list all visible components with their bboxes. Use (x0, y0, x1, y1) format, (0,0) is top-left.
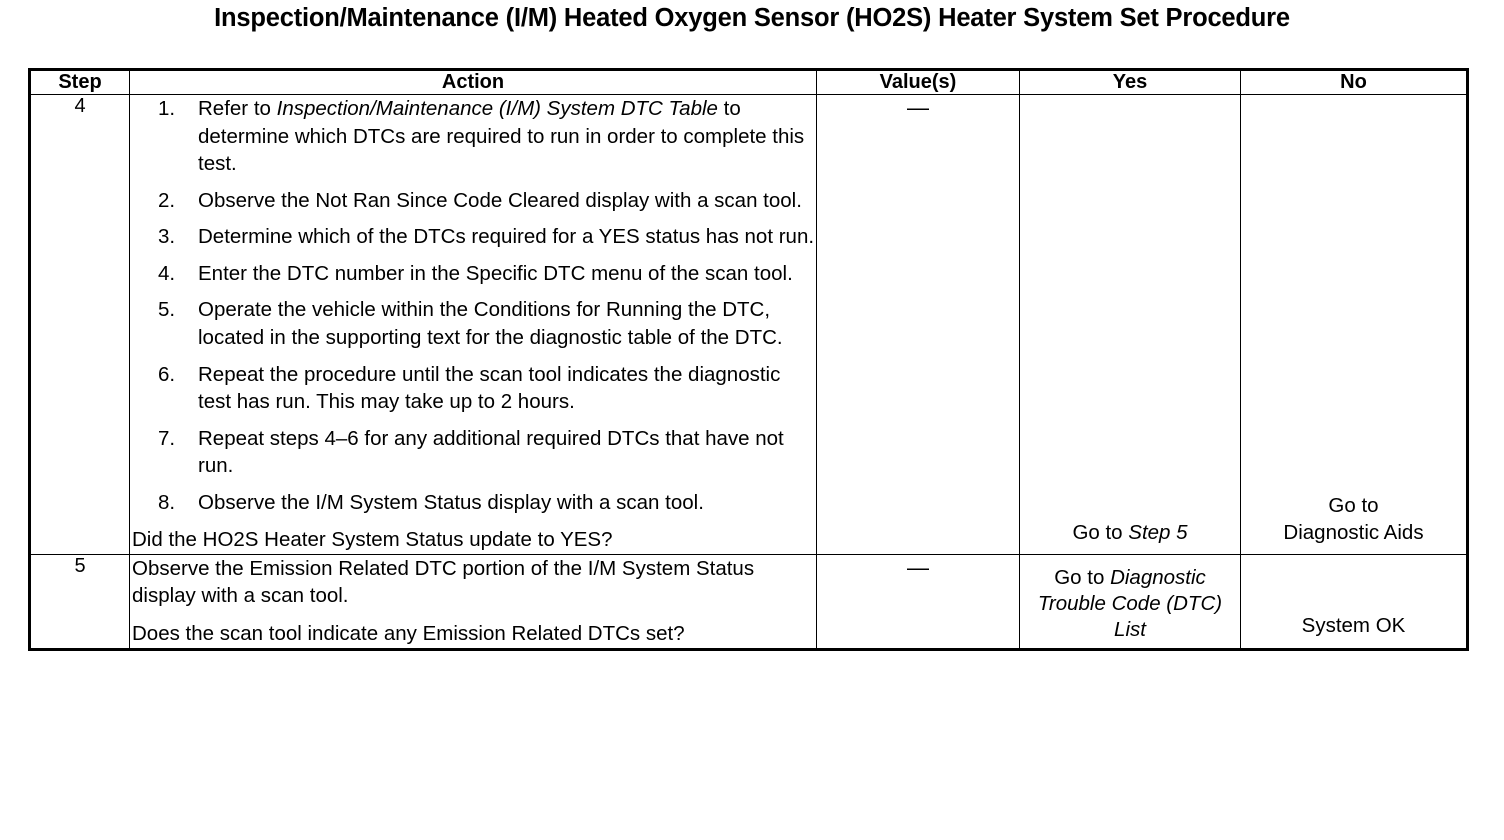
column-header-step: Step (30, 70, 130, 95)
list-item-number: 5. (158, 296, 190, 324)
list-item-number: 6. (158, 361, 190, 389)
table-header: Step Action Value(s) Yes No (30, 70, 1468, 95)
list-item-number: 8. (158, 489, 190, 517)
table-body: 4 1.Refer to Inspection/Maintenance (I/M… (30, 95, 1468, 650)
column-header-yes: Yes (1020, 70, 1241, 95)
action-cell: Observe the Emission Related DTC portion… (130, 554, 817, 649)
list-item: 4.Enter the DTC number in the Specific D… (130, 260, 816, 288)
action-question: Does the scan tool indicate any Emission… (130, 620, 816, 648)
list-item-text: Enter the DTC number in the Specific DTC… (198, 262, 793, 285)
action-paragraph: Observe the Emission Related DTC portion… (130, 555, 816, 610)
list-item: 2.Observe the Not Ran Since Code Cleared… (130, 187, 816, 215)
list-item-number: 1. (158, 95, 190, 123)
list-item: 3.Determine which of the DTCs required f… (130, 223, 816, 251)
table-row: 5 Observe the Emission Related DTC porti… (30, 554, 1468, 649)
yes-branch-cell: Go to Step 5 (1020, 95, 1241, 555)
list-item: 8.Observe the I/M System Status display … (130, 489, 816, 517)
no-branch-cell: Go to Diagnostic Aids (1241, 95, 1468, 555)
step-number: 5 (30, 554, 130, 649)
action-cell: 1.Refer to Inspection/Maintenance (I/M) … (130, 95, 817, 555)
no-branch-cell: System OK (1241, 554, 1468, 649)
list-item: 1.Refer to Inspection/Maintenance (I/M) … (130, 95, 816, 178)
list-item-text: Operate the vehicle within the Condition… (198, 298, 783, 349)
value-cell: — (817, 95, 1020, 555)
step-number: 4 (30, 95, 130, 555)
table-row: 4 1.Refer to Inspection/Maintenance (I/M… (30, 95, 1468, 555)
list-item: 5.Operate the vehicle within the Conditi… (130, 296, 816, 351)
list-item-text: Observe the I/M System Status display wi… (198, 491, 704, 514)
yes-branch-prefix: Go to (1054, 566, 1110, 589)
list-item-number: 3. (158, 223, 190, 251)
column-header-no: No (1241, 70, 1468, 95)
list-item-number: 4. (158, 260, 190, 288)
value-cell: — (817, 554, 1020, 649)
list-item-text-italic: Inspection/Maintenance (I/M) System DTC … (277, 97, 718, 120)
yes-branch-prefix: Go to (1072, 521, 1128, 544)
diagnostic-procedure-table: Step Action Value(s) Yes No 4 1.Refer to… (28, 68, 1469, 651)
action-question: Did the HO2S Heater System Status update… (130, 526, 816, 554)
no-branch-target: Diagnostic Aids (1241, 520, 1466, 546)
list-item-number: 7. (158, 425, 190, 453)
yes-branch-cell: Go to Diagnostic Trouble Code (DTC) List (1020, 554, 1241, 649)
list-item-text: Repeat the procedure until the scan tool… (198, 363, 780, 414)
page-title: Inspection/Maintenance (I/M) Heated Oxyg… (0, 4, 1504, 33)
document-page: Inspection/Maintenance (I/M) Heated Oxyg… (0, 0, 1504, 840)
list-item-text-before: Refer to (198, 97, 277, 120)
list-item: 6.Repeat the procedure until the scan to… (130, 361, 816, 416)
action-step-list: 1.Refer to Inspection/Maintenance (I/M) … (130, 95, 816, 516)
table-header-row: Step Action Value(s) Yes No (30, 70, 1468, 95)
column-header-value: Value(s) (817, 70, 1020, 95)
list-item-text: Repeat steps 4–6 for any additional requ… (198, 427, 784, 478)
list-item-number: 2. (158, 187, 190, 215)
list-item-text: Observe the Not Ran Since Code Cleared d… (198, 189, 802, 212)
list-item: 7.Repeat steps 4–6 for any additional re… (130, 425, 816, 480)
no-branch-result: System OK (1302, 614, 1406, 637)
no-branch-prefix: Go to (1241, 493, 1466, 519)
list-item-text: Determine which of the DTCs required for… (198, 225, 814, 248)
column-header-action: Action (130, 70, 817, 95)
yes-branch-target: Step 5 (1128, 521, 1187, 544)
